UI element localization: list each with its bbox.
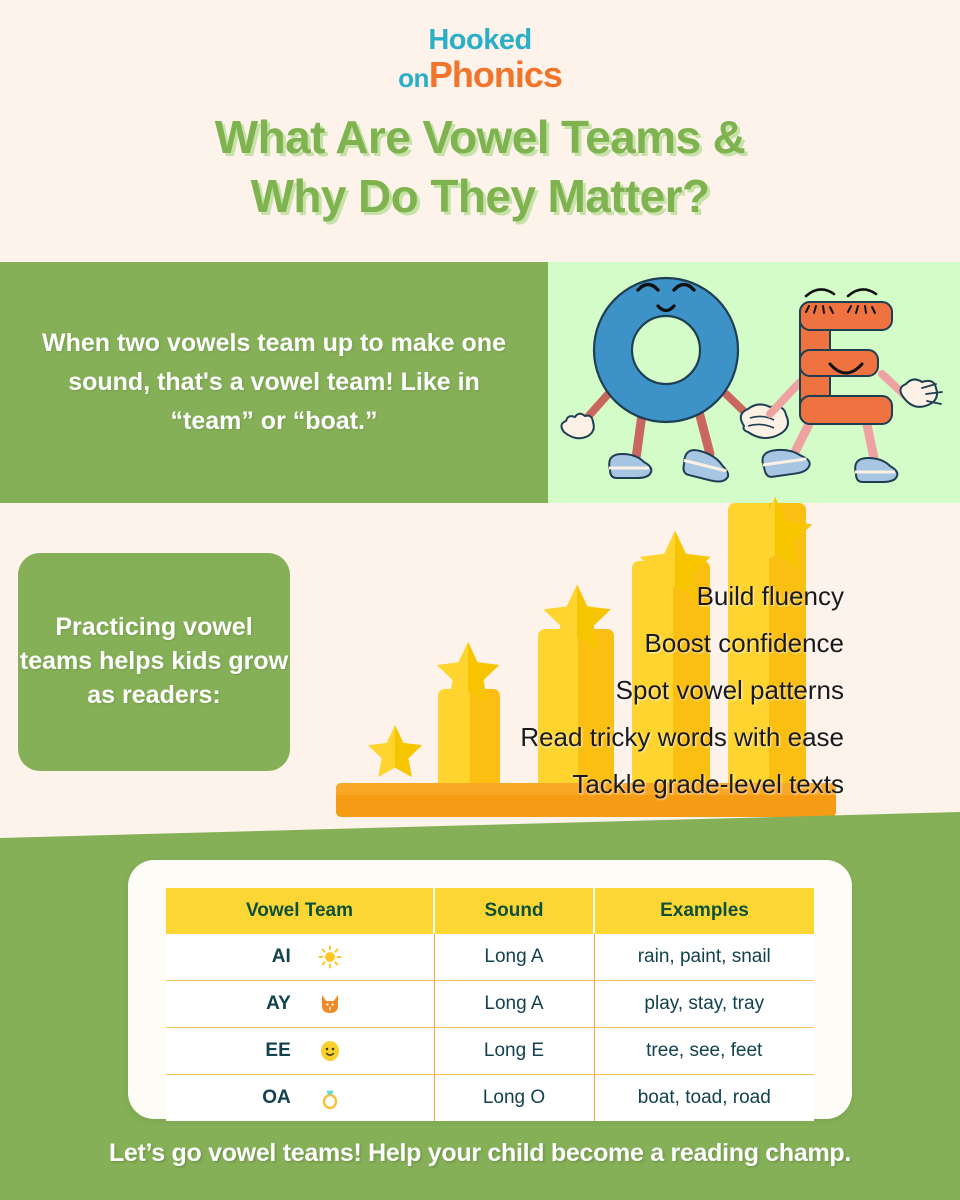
benefit-label-1: Build fluency (324, 583, 844, 609)
ring-icon (317, 1085, 343, 1111)
vowel-team-letters: OA (257, 1087, 291, 1109)
table-header-sound: Sound (434, 888, 594, 934)
practice-callout-text: Practicing vowel teams helps kids grow a… (18, 611, 290, 712)
brand-logo: Hooked onPhonics (0, 26, 960, 93)
logo-phonics: Phonics (429, 54, 562, 95)
page-title-line-2: Why Do They Matter? (0, 167, 960, 226)
vowel-team-table: Vowel Team Sound Examples AI Long A rain… (166, 888, 814, 1121)
table-row: EE Long E tree, see, feet (166, 1028, 814, 1075)
table-row: AI Long A rain, paint, snail (166, 934, 814, 981)
table-cell-examples: boat, toad, road (594, 1075, 814, 1122)
logo-second-line: onPhonics (0, 57, 960, 93)
hero-band: When two vowels team up to make one soun… (0, 262, 960, 503)
fox-face-icon (317, 991, 343, 1017)
benefit-label-4: Read tricky words with ease (324, 724, 844, 750)
vowel-team-letters: AI (257, 946, 291, 968)
table-cell-examples: rain, paint, snail (594, 934, 814, 981)
table-header-row: Vowel Team Sound Examples (166, 888, 814, 934)
table-cell-sound: Long E (434, 1028, 594, 1075)
table-cell-sound: Long O (434, 1075, 594, 1122)
footer-call-to-action: Let’s go vowel teams! Help your child be… (0, 1139, 960, 1168)
logo-on: on (398, 63, 429, 93)
smiley-face-icon (317, 1038, 343, 1064)
benefit-label-list: Build fluency Boost confidence Spot vowe… (324, 583, 844, 818)
table-cell-sound: Long A (434, 934, 594, 981)
vowel-team-table-card: Vowel Team Sound Examples AI Long A rain… (128, 860, 852, 1119)
hero-definition-text: When two vowels team up to make one soun… (39, 324, 509, 440)
vowel-team-letters: AY (257, 993, 291, 1015)
page-title: What Are Vowel Teams & Why Do They Matte… (0, 108, 960, 226)
vowel-team-characters-illustration (548, 262, 960, 503)
sun-icon (317, 944, 343, 970)
table-header-vowel-team: Vowel Team (166, 888, 434, 934)
benefit-label-2: Boost confidence (324, 630, 844, 656)
benefit-label-5: Tackle grade-level texts (324, 771, 844, 797)
table-cell-team: OA (166, 1075, 434, 1122)
star-icon-5 (730, 491, 820, 584)
table-row: AY Long A play, stay, tray (166, 981, 814, 1028)
hero-definition-panel: When two vowels team up to make one soun… (0, 262, 548, 503)
table-row: OA Long O boat, toad, road (166, 1075, 814, 1122)
benefit-label-3: Spot vowel patterns (324, 677, 844, 703)
table-cell-team: AY (166, 981, 434, 1028)
table-header-examples: Examples (594, 888, 814, 934)
page-title-line-1: What Are Vowel Teams & (0, 108, 960, 167)
practice-callout-box: Practicing vowel teams helps kids grow a… (18, 553, 290, 771)
logo-hooked: Hooked (0, 26, 960, 55)
table-cell-examples: play, stay, tray (594, 981, 814, 1028)
table-cell-team: EE (166, 1028, 434, 1075)
table-cell-team: AI (166, 934, 434, 981)
table-cell-examples: tree, see, feet (594, 1028, 814, 1075)
vowel-team-letters: EE (257, 1040, 291, 1062)
table-cell-sound: Long A (434, 981, 594, 1028)
growth-bar-chart: Build fluency Boost confidence Spot vowe… (330, 495, 850, 825)
